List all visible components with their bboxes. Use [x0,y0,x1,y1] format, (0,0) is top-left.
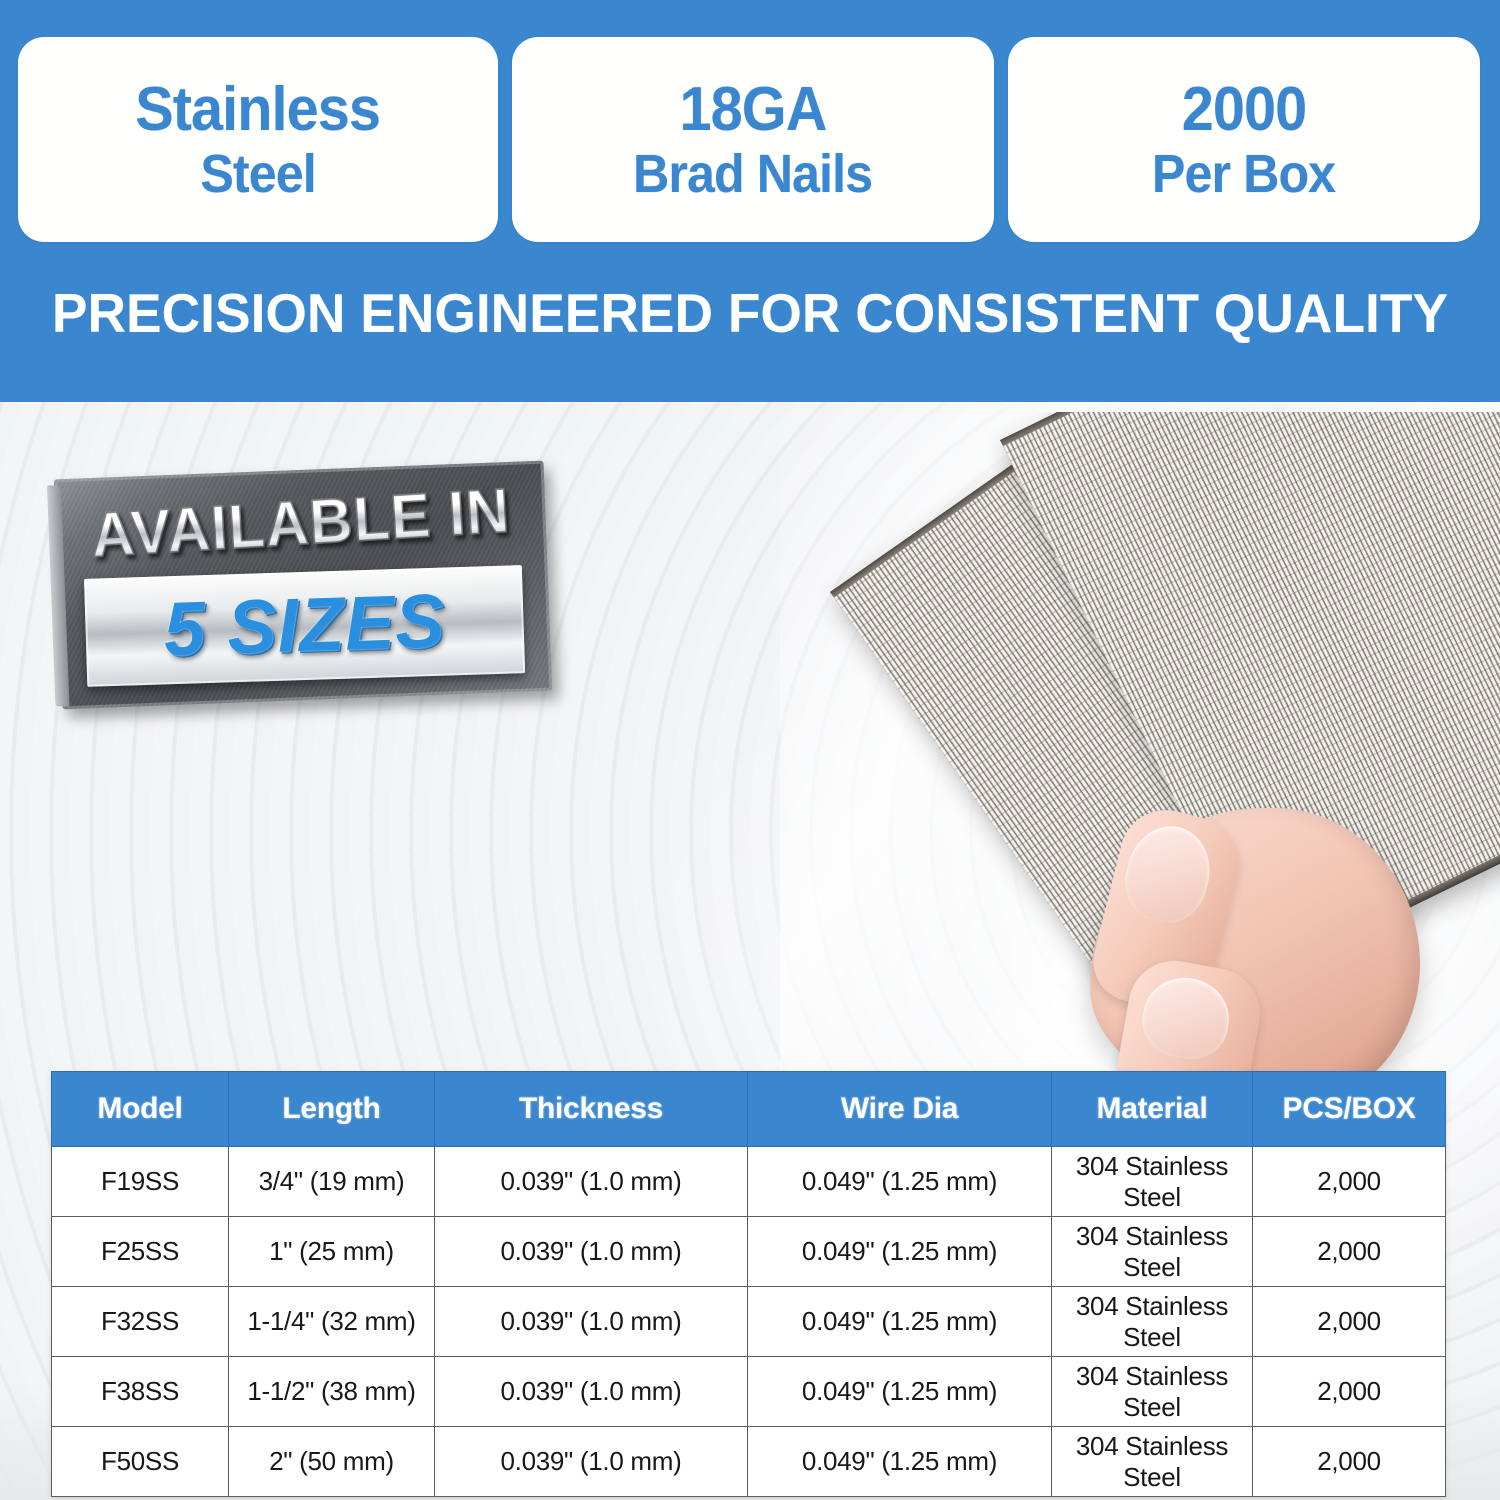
cell-material: 304 Stainless Steel [1052,1147,1253,1217]
cell-wire: 0.049" (1.25 mm) [748,1217,1052,1287]
cell-length: 2" (50 mm) [229,1427,435,1497]
cell-wire: 0.049" (1.25 mm) [748,1427,1052,1497]
spec-card-material: Stainless Steel [18,37,498,242]
table-row: F19SS 3/4" (19 mm) 0.039" (1.0 mm) 0.049… [52,1147,1446,1217]
cell-length: 3/4" (19 mm) [229,1147,435,1217]
spec-card-gauge-bottom: Brad Nails [633,147,872,201]
header-band: Stainless Steel 18GA Brad Nails 2000 Per… [0,0,1500,402]
cell-wire: 0.049" (1.25 mm) [748,1357,1052,1427]
table-row: F32SS 1-1/4" (32 mm) 0.039" (1.0 mm) 0.0… [52,1287,1446,1357]
cell-pcs: 2,000 [1253,1427,1446,1497]
table-header-material: Material [1052,1072,1253,1147]
cell-material: 304 Stainless Steel [1052,1427,1253,1497]
spec-card-gauge-top: 18GA [680,79,827,141]
cell-pcs: 2,000 [1253,1287,1446,1357]
badge-line-five-sizes: 5 SIZES [91,575,518,675]
cell-thickness: 0.039" (1.0 mm) [435,1217,748,1287]
cell-model: F19SS [52,1147,229,1217]
cell-model: F25SS [52,1217,229,1287]
table-row: F25SS 1" (25 mm) 0.039" (1.0 mm) 0.049" … [52,1217,1446,1287]
table-header-length: Length [229,1072,435,1147]
cell-thickness: 0.039" (1.0 mm) [435,1147,748,1217]
cell-length: 1" (25 mm) [229,1217,435,1287]
cell-material: 304 Stainless Steel [1052,1357,1253,1427]
table-header-pcs-box: PCS/BOX [1253,1072,1446,1147]
table-header-model: Model [52,1072,229,1147]
spec-card-material-top: Stainless [136,79,381,141]
header-tagline: PRECISION ENGINEERED FOR CONSISTENT QUAL… [23,281,1478,345]
table-header-thickness: Thickness [435,1072,748,1147]
spec-cards-row: Stainless Steel 18GA Brad Nails 2000 Per… [18,37,1482,242]
table-header-wire-dia: Wire Dia [748,1072,1052,1147]
spec-card-quantity: 2000 Per Box [1008,37,1480,242]
spec-card-quantity-top: 2000 [1182,79,1307,141]
cell-model: F50SS [52,1427,229,1497]
table-row: F50SS 2" (50 mm) 0.039" (1.0 mm) 0.049" … [52,1427,1446,1497]
cell-pcs: 2,000 [1253,1147,1446,1217]
spec-card-gauge: 18GA Brad Nails [512,37,994,242]
table-row: F38SS 1-1/2" (38 mm) 0.039" (1.0 mm) 0.0… [52,1357,1446,1427]
cell-length: 1-1/2" (38 mm) [229,1357,435,1427]
cell-material: 304 Stainless Steel [1052,1217,1253,1287]
cell-thickness: 0.039" (1.0 mm) [435,1427,748,1497]
available-sizes-badge: AVAILABLE IN 5 SIZES [54,461,552,710]
cell-pcs: 2,000 [1253,1217,1446,1287]
cell-wire: 0.049" (1.25 mm) [748,1287,1052,1357]
cell-thickness: 0.039" (1.0 mm) [435,1357,748,1427]
cell-model: F32SS [52,1287,229,1357]
specification-table: Model Length Thickness Wire Dia Material… [51,1071,1446,1497]
badge-inner-bar: 5 SIZES [84,565,525,687]
cell-pcs: 2,000 [1253,1357,1446,1427]
cell-model: F38SS [52,1357,229,1427]
cell-length: 1-1/4" (32 mm) [229,1287,435,1357]
hand-holding-nails-photo [745,412,1500,1077]
table-header-row: Model Length Thickness Wire Dia Material… [52,1072,1446,1147]
cell-material: 304 Stainless Steel [1052,1287,1253,1357]
cell-wire: 0.049" (1.25 mm) [748,1147,1052,1217]
cell-thickness: 0.039" (1.0 mm) [435,1287,748,1357]
spec-card-material-bottom: Steel [200,147,315,201]
spec-card-quantity-bottom: Per Box [1152,147,1335,201]
product-infographic: Stainless Steel 18GA Brad Nails 2000 Per… [0,0,1500,1500]
